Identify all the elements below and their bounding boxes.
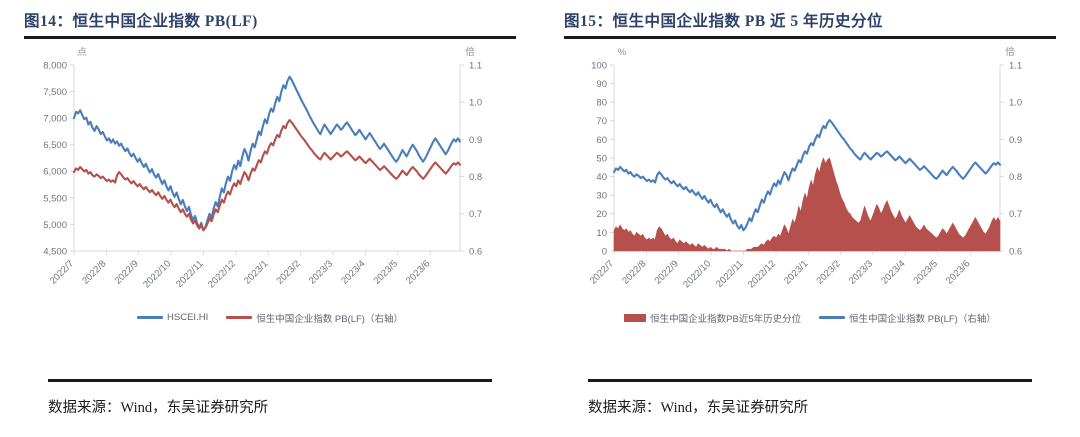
left-tick-label: 7,000 xyxy=(43,113,67,124)
chart-legend-15: 恒生中国企业指数PB近5年历史分位恒生中国企业指数 PB(LF)（右轴） xyxy=(564,311,1056,325)
data-source-15: 数据来源：Wind，东吴证券研究所 xyxy=(588,382,1032,417)
right-tick-label: 1.0 xyxy=(1009,97,1022,108)
x-tick-label: 2022/11 xyxy=(714,258,746,290)
left-tick-label: 4,500 xyxy=(43,246,67,257)
right-tick-label: 0.6 xyxy=(1009,246,1022,257)
x-tick-label: 2022/9 xyxy=(653,258,681,286)
x-tick-label: 2022/10 xyxy=(141,258,173,290)
report-sheet: 图14：恒生中国企业指数 PB(LF) 点倍4,5005,0005,5006,0… xyxy=(0,0,1080,437)
legend-label: 恒生中国企业指数 PB(LF)（右轴） xyxy=(849,311,996,325)
x-tick-label: 2023/4 xyxy=(339,258,367,286)
figure-title-15: 图15：恒生中国企业指数 PB 近 5 年历史分位 xyxy=(564,0,1056,31)
left-tick-label: 8,000 xyxy=(43,60,67,71)
x-tick-label: 2023/1 xyxy=(782,258,810,286)
x-tick-label: 2023/6 xyxy=(944,258,972,286)
x-tick-label: 2023/3 xyxy=(307,258,335,286)
left-tick-label: 20 xyxy=(596,209,607,220)
legend-swatch-icon xyxy=(624,314,646,322)
chart-svg-15: %倍01020304050607080901000.60.70.80.91.01… xyxy=(564,39,1056,307)
x-tick-label: 2022/12 xyxy=(746,258,778,290)
left-axis-unit: 点 xyxy=(77,47,87,58)
figure-panel-15: 图15：恒生中国企业指数 PB 近 5 年历史分位 %倍010203040506… xyxy=(540,0,1080,437)
chart-14: 点倍4,5005,0005,5006,0006,5007,0007,5008,0… xyxy=(24,39,516,307)
x-tick-label: 2022/12 xyxy=(206,258,238,290)
left-tick-label: 100 xyxy=(591,60,607,71)
right-tick-label: 1.1 xyxy=(469,60,482,71)
x-tick-label: 2023/1 xyxy=(242,258,270,286)
left-tick-label: 10 xyxy=(596,227,607,238)
x-tick-label: 2022/9 xyxy=(113,258,141,286)
right-tick-label: 0.7 xyxy=(469,209,482,220)
left-tick-label: 6,000 xyxy=(43,166,67,177)
left-tick-label: 5,000 xyxy=(43,219,67,230)
legend-label: 恒生中国企业指数PB近5年历史分位 xyxy=(650,311,801,325)
x-tick-label: 2023/2 xyxy=(814,258,842,286)
x-tick-label: 2022/8 xyxy=(620,258,648,286)
x-tick-label: 2022/11 xyxy=(174,258,206,290)
left-tick-label: 80 xyxy=(596,97,607,108)
legend-swatch-icon xyxy=(819,316,845,319)
left-tick-label: 6,500 xyxy=(43,140,67,151)
legend-label: 恒生中国企业指数 PB(LF)（右轴） xyxy=(256,311,403,325)
left-tick-label: 50 xyxy=(596,153,607,164)
right-tick-label: 0.8 xyxy=(469,172,482,183)
legend-item[interactable]: HSCEI.HI xyxy=(137,312,208,323)
x-tick-label: 2022/8 xyxy=(80,258,108,286)
legend-item[interactable]: 恒生中国企业指数 PB(LF)（右轴） xyxy=(819,311,996,325)
data-source-14: 数据来源：Wind，东吴证券研究所 xyxy=(48,382,492,417)
left-tick-label: 70 xyxy=(596,116,607,127)
right-tick-label: 0.7 xyxy=(1009,209,1022,220)
footer-15: 数据来源：Wind，东吴证券研究所 xyxy=(588,379,1032,437)
left-tick-label: 7,500 xyxy=(43,86,67,97)
x-tick-label: 2023/3 xyxy=(847,258,875,286)
left-tick-label: 5,500 xyxy=(43,193,67,204)
figure-title-14: 图14：恒生中国企业指数 PB(LF) xyxy=(24,0,516,31)
legend-item[interactable]: 恒生中国企业指数PB近5年历史分位 xyxy=(624,311,801,325)
left-tick-label: 0 xyxy=(602,246,607,257)
legend-swatch-icon xyxy=(137,316,163,319)
figure-panel-14: 图14：恒生中国企业指数 PB(LF) 点倍4,5005,0005,5006,0… xyxy=(0,0,540,437)
chart-zone-14: 点倍4,5005,0005,5006,0006,5007,0007,5008,0… xyxy=(24,39,516,351)
legend-label: HSCEI.HI xyxy=(167,312,208,323)
right-axis-unit: 倍 xyxy=(1005,46,1015,58)
right-axis-unit: 倍 xyxy=(465,46,475,58)
x-tick-label: 2022/10 xyxy=(681,258,713,290)
left-tick-label: 60 xyxy=(596,134,607,145)
left-tick-label: 30 xyxy=(596,190,607,201)
legend-item[interactable]: 恒生中国企业指数 PB(LF)（右轴） xyxy=(226,311,403,325)
chart-zone-15: %倍01020304050607080901000.60.70.80.91.01… xyxy=(564,39,1056,351)
chart-legend-14: HSCEI.HI恒生中国企业指数 PB(LF)（右轴） xyxy=(24,311,516,325)
left-tick-label: 90 xyxy=(596,79,607,90)
series-line-right xyxy=(74,120,460,230)
right-tick-label: 1.1 xyxy=(1009,60,1022,71)
left-axis-unit: % xyxy=(618,47,627,58)
right-tick-label: 0.9 xyxy=(1009,134,1022,145)
x-tick-label: 2022/7 xyxy=(48,258,76,286)
chart-15: %倍01020304050607080901000.60.70.80.91.01… xyxy=(564,39,1056,307)
chart-svg-14: 点倍4,5005,0005,5006,0006,5007,0007,5008,0… xyxy=(24,39,516,307)
x-tick-label: 2023/4 xyxy=(879,258,907,286)
x-tick-label: 2023/5 xyxy=(912,258,940,286)
left-tick-label: 40 xyxy=(596,172,607,183)
legend-swatch-icon xyxy=(226,316,252,319)
right-tick-label: 1.0 xyxy=(469,97,482,108)
right-tick-label: 0.8 xyxy=(1009,172,1022,183)
x-tick-label: 2023/6 xyxy=(404,258,432,286)
right-tick-label: 0.9 xyxy=(469,134,482,145)
x-tick-label: 2023/2 xyxy=(274,258,302,286)
right-tick-label: 0.6 xyxy=(469,246,482,257)
footer-14: 数据来源：Wind，东吴证券研究所 xyxy=(48,379,492,437)
x-tick-label: 2023/5 xyxy=(372,258,400,286)
x-tick-label: 2022/7 xyxy=(588,258,616,286)
